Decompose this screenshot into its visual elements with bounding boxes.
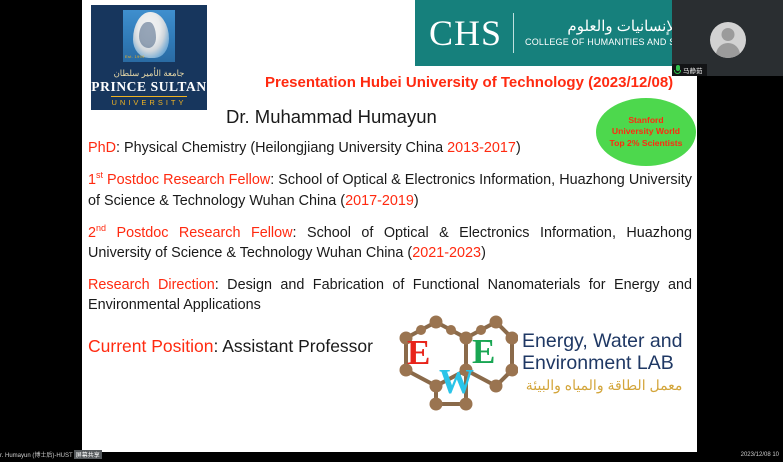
- psu-subtitle: UNIVERSITY: [111, 96, 186, 107]
- participant-name-bar: 马静茹: [672, 64, 707, 76]
- psu-established-text: Est. 1999: [125, 54, 145, 59]
- bottom-black-strip: [0, 452, 783, 462]
- postdoc1-years: 2017-2019: [345, 193, 414, 209]
- phd-years: 2013-2017: [447, 140, 516, 156]
- presenter-name: Dr. Muhammad Humayun: [226, 106, 437, 128]
- molecule-icon: E W E: [388, 308, 518, 416]
- postdoc1-tail: ): [414, 193, 419, 209]
- slide-title: Presentation Hubei University of Technol…: [265, 74, 673, 91]
- postdoc2-number: 2: [88, 225, 96, 241]
- shared-slide: Est. 1999 جامعة الأمير سلطان PRINCE SULT…: [82, 0, 697, 452]
- badge-line-1: Stanford: [628, 115, 663, 127]
- postdoc2-ordinal: nd: [96, 223, 106, 233]
- postdoc2-tail: ): [481, 245, 486, 261]
- slide-body: PhD: Physical Chemistry (Heilongjiang Un…: [88, 138, 692, 316]
- bio-entry-postdoc-1: 1st Postdoc Research Fellow: School of O…: [88, 169, 692, 211]
- default-avatar-icon: [710, 22, 746, 58]
- postdoc1-label: Postdoc Research Fellow: [103, 172, 270, 188]
- chs-arabic-name: ة الإنسانيات والعلوم: [525, 19, 691, 36]
- ewe-letter-energy: E: [407, 335, 430, 370]
- participant-name: 马静茹: [683, 65, 703, 75]
- prince-sultan-university-logo: Est. 1999 جامعة الأمير سلطان PRINCE SULT…: [91, 5, 207, 110]
- bio-entry-current-position: Current Position: Assistant Professor: [88, 336, 373, 357]
- ewe-arabic-name: معمل الطاقة والمياه والبيئة: [522, 377, 682, 394]
- current-position-label: Current Position: [88, 336, 213, 356]
- participant-video-tile[interactable]: 马静茹: [672, 0, 783, 76]
- chs-college-logo: CHS ة الإنسانيات والعلوم COLLEGE OF HUMA…: [415, 0, 697, 66]
- psu-crest-icon: Est. 1999: [123, 10, 175, 62]
- recording-timestamp: 2023/12/08 10: [741, 452, 779, 458]
- psu-name: PRINCE SULTAN: [91, 80, 206, 94]
- research-direction-label: Research Direction: [88, 277, 215, 293]
- phd-label: PhD: [88, 140, 116, 156]
- postdoc2-years: 2021-2023: [412, 245, 481, 261]
- ewe-english-line-1: Energy, Water and: [522, 330, 682, 352]
- phd-text: : Physical Chemistry (Heilongjiang Unive…: [116, 140, 447, 156]
- ewe-lab-logo: E W E Energy, Water and Environment LAB …: [388, 306, 693, 418]
- postdoc1-ordinal: st: [96, 170, 103, 180]
- postdoc2-label: Postdoc Research Fellow: [106, 225, 293, 241]
- screen-share-view: Est. 1999 جامعة الأمير سلطان PRINCE SULT…: [0, 0, 783, 462]
- chs-acronym: CHS: [429, 15, 502, 51]
- chs-english-name: COLLEGE OF HUMANITIES AND SCIE: [525, 37, 691, 47]
- postdoc1-number: 1: [88, 172, 96, 188]
- ewe-letter-environment: E: [472, 334, 495, 369]
- current-position-text: : Assistant Professor: [213, 336, 373, 356]
- presenter-sharing-text: r. Humayun (博士后)-HUST: [0, 450, 73, 459]
- presenter-sharing-chip: 屏幕共享: [74, 450, 102, 459]
- ewe-english-line-2: Environment LAB: [522, 352, 682, 374]
- phd-tail: ): [516, 140, 521, 156]
- chs-divider: [513, 13, 514, 53]
- microphone-icon: [674, 65, 681, 75]
- bio-entry-postdoc-2: 2nd Postdoc Research Fellow: School of O…: [88, 222, 692, 264]
- ewe-letter-water: W: [439, 364, 474, 399]
- psu-arabic-name: جامعة الأمير سلطان: [114, 68, 185, 79]
- badge-line-2: University World: [612, 126, 680, 138]
- bio-entry-phd: PhD: Physical Chemistry (Heilongjiang Un…: [88, 138, 692, 158]
- presenter-sharing-tag: r. Humayun (博士后)-HUST 屏幕共享: [0, 450, 102, 459]
